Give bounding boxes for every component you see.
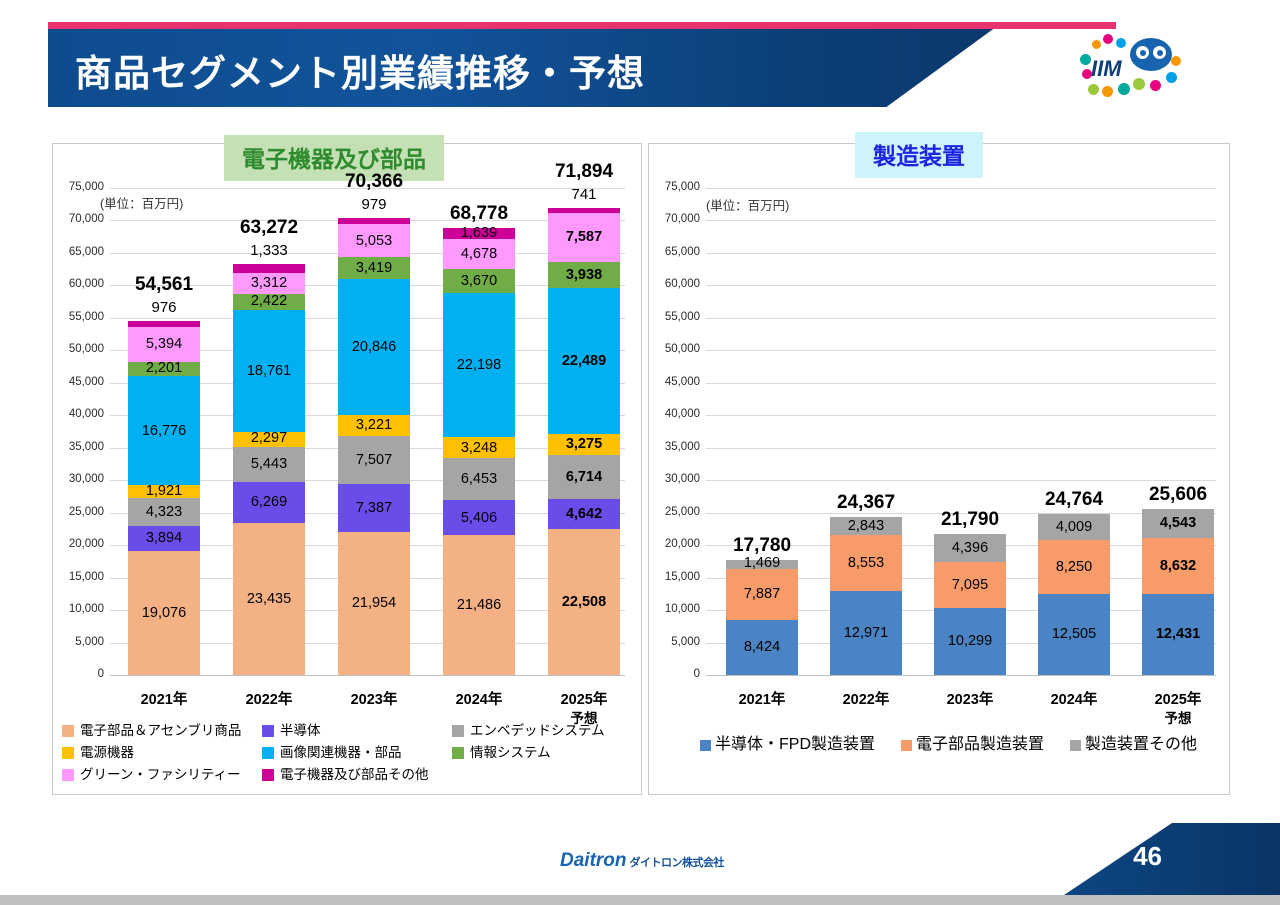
- gridline: [706, 188, 1216, 189]
- segment-value-label: 8,424: [744, 640, 780, 655]
- bar-column[interactable]: 2,8438,55312,971: [830, 517, 902, 675]
- y-axis-tick: 50,000: [640, 343, 700, 355]
- daitron-company-name: ダイトロン株式会社: [630, 857, 725, 869]
- y-axis-tick: 70,000: [640, 213, 700, 225]
- bar-total-label: 25,606: [1103, 484, 1253, 506]
- y-axis-tick: 55,000: [640, 311, 700, 323]
- legend-item[interactable]: 半導体・FPD製造装置: [700, 737, 875, 753]
- legend-swatch-icon: [1070, 740, 1081, 751]
- y-axis-tick: 15,000: [640, 571, 700, 583]
- bar-segment[interactable]: 10,299: [934, 608, 1006, 675]
- y-axis-tick: 75,000: [640, 181, 700, 193]
- axis-baseline: [706, 675, 1216, 676]
- segment-value-label: 12,505: [1052, 627, 1096, 642]
- bar-segment[interactable]: 7,095: [934, 562, 1006, 608]
- bar-segment[interactable]: 12,505: [1038, 594, 1110, 675]
- bar-segment[interactable]: 12,971: [830, 591, 902, 675]
- segment-value-label: 2,843: [848, 519, 884, 534]
- bar-segment[interactable]: 12,431: [1142, 594, 1214, 675]
- bar-column[interactable]: 1,4697,8878,424: [726, 560, 798, 675]
- gridline: [706, 350, 1216, 351]
- x-axis-sublabel: 予想: [1118, 707, 1238, 727]
- bar-segment[interactable]: 7,887: [726, 569, 798, 620]
- y-axis-tick: 5,000: [640, 636, 700, 648]
- gridline: [706, 285, 1216, 286]
- segment-value-label: 8,250: [1056, 560, 1092, 575]
- segment-value-label: 8,553: [848, 556, 884, 571]
- x-axis-label: 2022年: [806, 688, 926, 709]
- bar-segment[interactable]: 8,424: [726, 620, 798, 675]
- y-axis-tick: 45,000: [640, 376, 700, 388]
- gridline: [706, 448, 1216, 449]
- gridline: [706, 480, 1216, 481]
- legend-label: 電子部品製造装置: [916, 737, 1044, 753]
- x-axis-label: 2021年: [702, 688, 822, 709]
- bar-segment[interactable]: 4,009: [1038, 514, 1110, 540]
- gridline: [706, 253, 1216, 254]
- legend-swatch-icon: [700, 740, 711, 751]
- legend-item[interactable]: 電子部品製造装置: [901, 737, 1044, 753]
- footer-gray-bar: [0, 895, 1280, 905]
- bar-segment[interactable]: 2,843: [830, 517, 902, 535]
- legend-label: 半導体・FPD製造装置: [715, 737, 875, 753]
- y-axis-tick: 0: [640, 668, 700, 680]
- bar-column[interactable]: 4,0098,25012,505: [1038, 514, 1110, 675]
- segment-value-label: 12,971: [844, 626, 888, 641]
- x-axis-label: 2024年: [1014, 688, 1134, 709]
- segment-value-label: 7,887: [744, 587, 780, 602]
- bar-segment[interactable]: 8,632: [1142, 538, 1214, 594]
- plot-area-equipment: 05,00010,00015,00020,00025,00030,00035,0…: [0, 0, 1280, 905]
- bar-column[interactable]: 4,3967,09510,299: [934, 534, 1006, 675]
- legend-label: 製造装置その他: [1085, 737, 1197, 753]
- daitron-logo: Daitronダイトロン株式会社: [560, 850, 724, 872]
- bar-segment[interactable]: 8,553: [830, 535, 902, 591]
- segment-value-label: 7,095: [952, 578, 988, 593]
- bar-segment[interactable]: 4,396: [934, 534, 1006, 563]
- y-axis-tick: 35,000: [640, 441, 700, 453]
- gridline: [706, 318, 1216, 319]
- page-number: 46: [1133, 841, 1162, 872]
- y-axis-tick: 65,000: [640, 246, 700, 258]
- legend-swatch-icon: [901, 740, 912, 751]
- segment-value-label: 10,299: [948, 634, 992, 649]
- x-axis-label: 2023年: [910, 688, 1030, 709]
- segment-value-label: 4,009: [1056, 520, 1092, 535]
- daitron-wordmark: Daitron: [560, 850, 627, 871]
- segment-value-label: 8,632: [1160, 559, 1196, 574]
- bar-segment[interactable]: 8,250: [1038, 540, 1110, 594]
- legend-item[interactable]: 製造装置その他: [1070, 737, 1197, 753]
- y-axis-tick: 10,000: [640, 603, 700, 615]
- segment-value-label: 4,543: [1160, 516, 1196, 531]
- bar-segment[interactable]: 1,469: [726, 560, 798, 570]
- y-axis-tick: 60,000: [640, 278, 700, 290]
- y-axis-tick: 30,000: [640, 473, 700, 485]
- gridline: [706, 220, 1216, 221]
- y-axis-tick: 25,000: [640, 506, 700, 518]
- bar-column[interactable]: 4,5438,63212,431: [1142, 509, 1214, 675]
- segment-value-label: 4,396: [952, 541, 988, 556]
- x-axis-label: 2025年: [1118, 688, 1238, 709]
- segment-value-label: 12,431: [1156, 627, 1200, 642]
- bar-total-label: 17,780: [687, 535, 837, 557]
- gridline: [706, 383, 1216, 384]
- y-axis-tick: 40,000: [640, 408, 700, 420]
- bar-segment[interactable]: 4,543: [1142, 509, 1214, 538]
- legend-equipment: 半導体・FPD製造装置電子部品製造装置製造装置その他: [700, 737, 1197, 753]
- bar-total-label: 21,790: [895, 509, 1045, 531]
- gridline: [706, 415, 1216, 416]
